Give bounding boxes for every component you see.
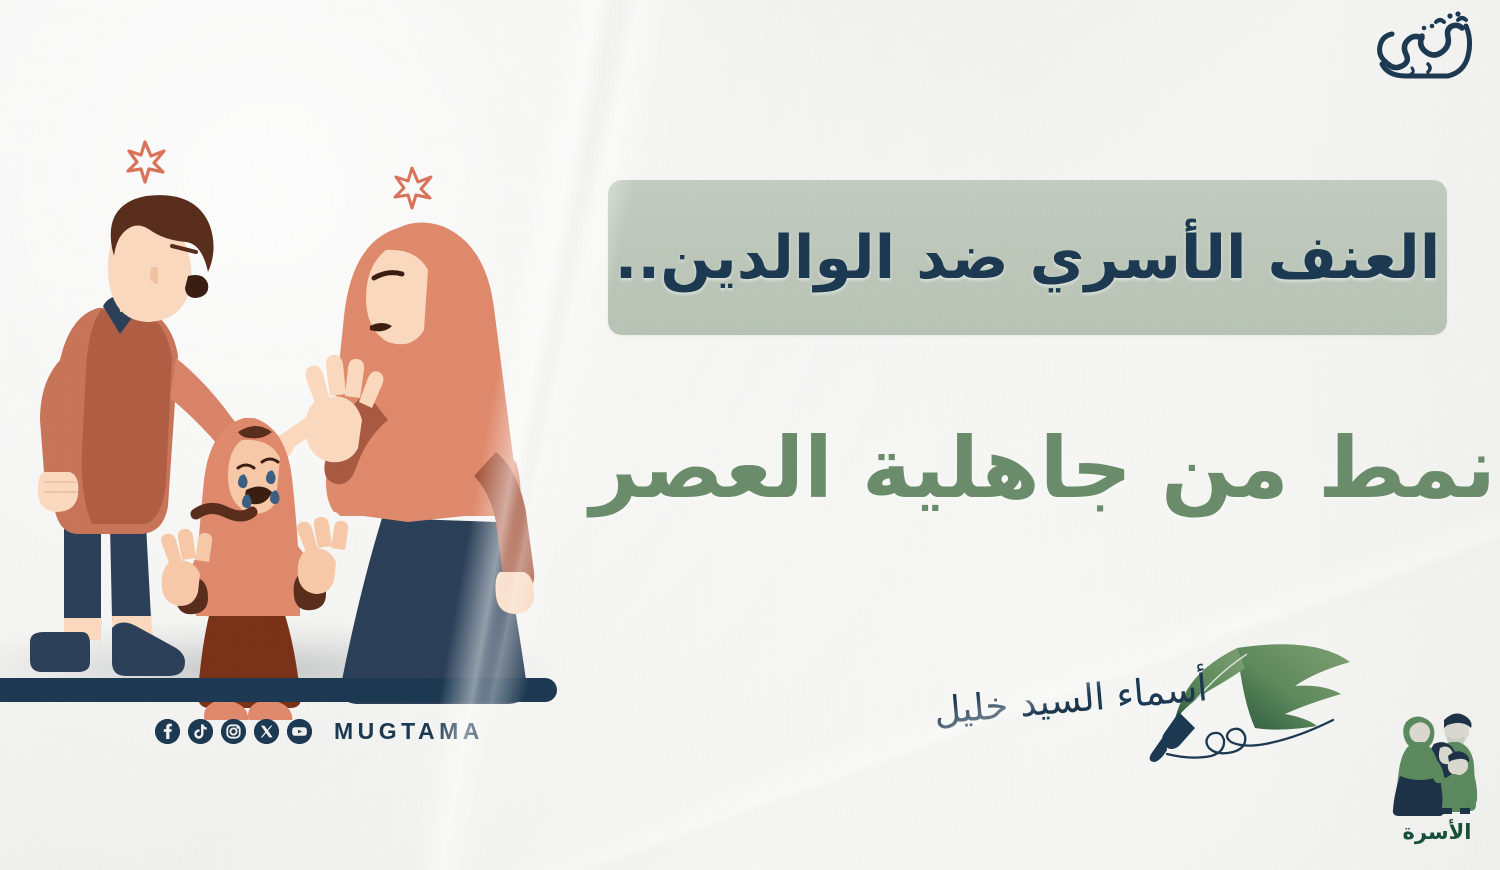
- social-bar: MUGTAMA: [155, 718, 484, 745]
- x-twitter-icon[interactable]: [254, 719, 279, 744]
- family-argument-illustration: [0, 120, 600, 720]
- headline-sub: نمط من جاهلية العصر: [590, 400, 1455, 535]
- headline-main: العنف الأسري ضد الوالدين..: [615, 223, 1441, 293]
- section-badge[interactable]: الأسرة: [1378, 692, 1496, 862]
- ground-bar: [0, 678, 557, 702]
- anger-star-icon: [128, 142, 164, 182]
- brand-name: MUGTAMA: [334, 718, 484, 745]
- author-signature-block: أسماء السيد خليل: [845, 628, 1355, 768]
- youtube-icon[interactable]: [287, 719, 312, 744]
- al-mujtama-logo[interactable]: [1362, 6, 1482, 94]
- family-illustration-icon: [1378, 692, 1496, 818]
- facebook-icon[interactable]: [155, 719, 180, 744]
- section-label: الأسرة: [1378, 820, 1496, 844]
- headline-box: العنف الأسري ضد الوالدين..: [608, 180, 1447, 335]
- instagram-icon[interactable]: [221, 719, 246, 744]
- tiktok-icon[interactable]: [188, 719, 213, 744]
- anger-star-icon-2: [395, 168, 431, 208]
- poster-canvas: العنف الأسري ضد الوالدين.. نمط من جاهلية…: [0, 0, 1500, 870]
